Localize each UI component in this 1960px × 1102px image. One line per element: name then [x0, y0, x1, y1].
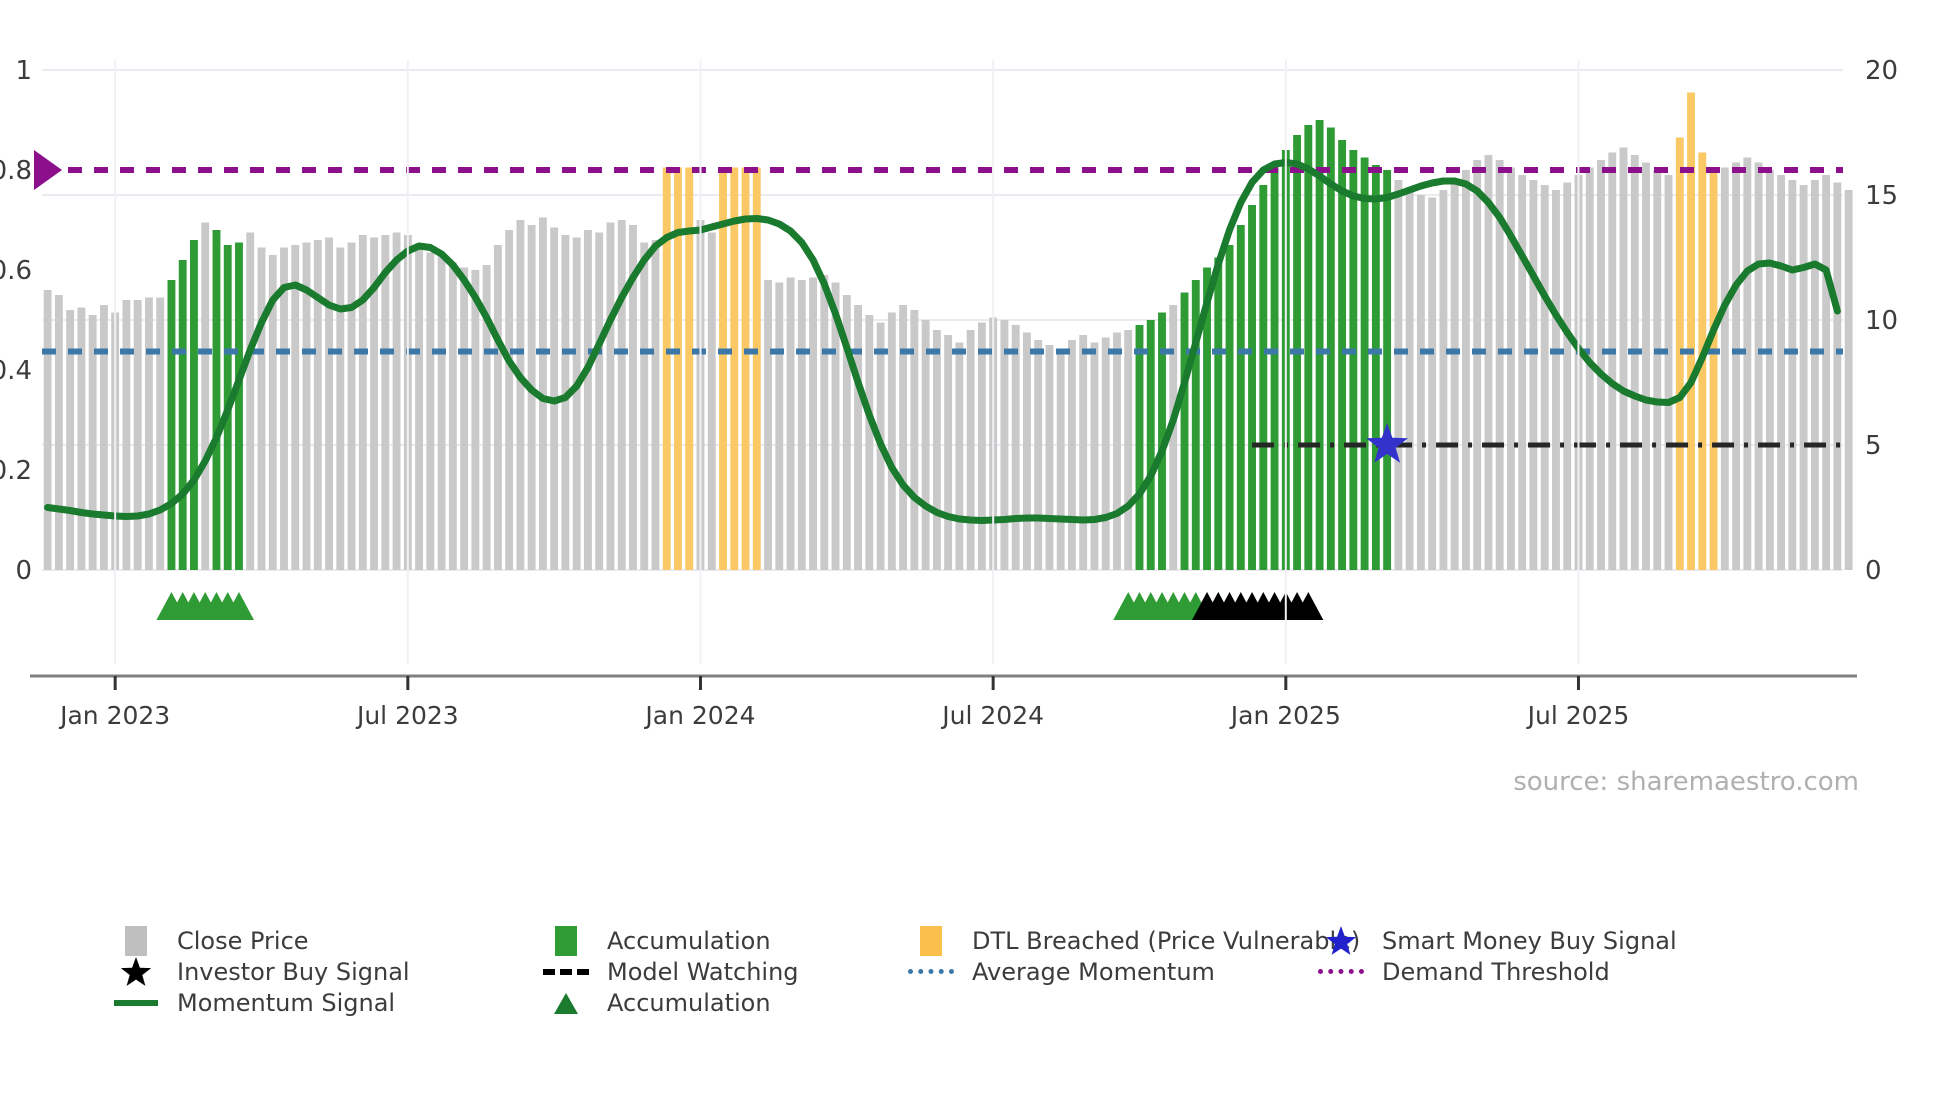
legend-item-demand-threshold[interactable]: Demand Threshold — [1310, 956, 1710, 987]
legend-item-accumulation[interactable]: Accumulation — [535, 987, 900, 1018]
smart-money-star-swatch — [1324, 924, 1358, 958]
legend-item-investor-buy-signal[interactable]: Investor Buy Signal — [105, 956, 535, 987]
close-price-bar[interactable] — [134, 300, 142, 570]
y-axis-left-label[interactable]: 0.2 — [0, 456, 32, 486]
close-price-bar[interactable] — [1079, 335, 1087, 570]
close-price-bar[interactable] — [1406, 188, 1414, 571]
close-price-bar[interactable] — [381, 235, 389, 570]
close-price-bar[interactable] — [471, 270, 479, 570]
legend-swatch — [535, 987, 597, 1018]
dtl-breached-bar[interactable] — [730, 168, 738, 571]
close-price-bar[interactable] — [820, 275, 828, 570]
accumulation-bar[interactable] — [1304, 125, 1312, 570]
close-price-bar[interactable] — [1620, 148, 1628, 571]
legend-item-accumulation[interactable]: Accumulation — [535, 925, 900, 956]
accumulation-bar[interactable] — [1226, 245, 1234, 570]
close-price-bar[interactable] — [438, 255, 446, 570]
accumulation-bar[interactable] — [1271, 168, 1279, 571]
close-price-bar[interactable] — [1045, 345, 1053, 570]
close-price-bar[interactable] — [640, 243, 648, 571]
close-price-bar[interactable] — [246, 233, 254, 571]
legend-label: Average Momentum — [972, 958, 1215, 986]
close-price-bar[interactable] — [787, 278, 795, 571]
close-price-bar[interactable] — [1057, 350, 1065, 570]
close-price-bar[interactable] — [426, 253, 434, 571]
close-price-bar[interactable] — [764, 280, 772, 570]
accumulation-bar[interactable] — [1259, 185, 1267, 570]
close-price-bar[interactable] — [1721, 168, 1729, 571]
legend-label: DTL Breached (Price Vulnerable) — [972, 927, 1360, 955]
legend-label: Momentum Signal — [177, 989, 395, 1017]
close-price-bar[interactable] — [809, 278, 817, 571]
close-price-bar[interactable] — [955, 343, 963, 571]
x-axis-tick-label[interactable]: Jul 2024 — [940, 701, 1044, 730]
accumulation-bar[interactable] — [1136, 325, 1144, 570]
y-axis-left-label[interactable]: 1 — [15, 56, 32, 86]
y-axis-left-label[interactable]: 0.6 — [0, 256, 32, 286]
dtl-breached-bar[interactable] — [674, 168, 682, 571]
close-price-bar[interactable] — [314, 240, 322, 570]
close-price-bar[interactable] — [854, 305, 862, 570]
close-price-bar[interactable] — [1766, 170, 1774, 570]
close-price-bar[interactable] — [944, 335, 952, 570]
close-price-bar[interactable] — [1845, 190, 1853, 570]
accumulation-bar[interactable] — [179, 260, 187, 570]
close-price-bar[interactable] — [1518, 175, 1526, 570]
close-price-bar[interactable] — [1417, 195, 1425, 570]
close-price-bar[interactable] — [258, 248, 266, 571]
close-price-bar[interactable] — [348, 243, 356, 571]
close-price-bar[interactable] — [1541, 185, 1549, 570]
y-axis-left-label[interactable]: 0.4 — [0, 356, 32, 386]
close-price-bar[interactable] — [967, 330, 975, 570]
close-price-bar[interactable] — [1023, 333, 1031, 571]
chart-legend: Close PriceAccumulationDTL Breached (Pri… — [105, 925, 1905, 1018]
close-price-bar[interactable] — [44, 290, 52, 570]
close-price-bar[interactable] — [1833, 183, 1841, 571]
close-price-bar[interactable] — [291, 245, 299, 570]
y-axis-left-label[interactable]: 0 — [15, 556, 32, 586]
close-price-bar[interactable] — [359, 235, 367, 570]
close-price-bar[interactable] — [494, 245, 502, 570]
close-price-bar[interactable] — [607, 223, 615, 571]
x-axis-tick-label[interactable]: Jul 2023 — [355, 701, 459, 730]
close-price-bar[interactable] — [1552, 190, 1560, 570]
dtl-breached-swatch — [920, 926, 942, 956]
close-price-bar[interactable] — [1394, 180, 1402, 570]
close-price-bar[interactable] — [922, 320, 930, 570]
close-price-bar[interactable] — [1597, 160, 1605, 570]
dtl-breached-bar[interactable] — [1687, 93, 1695, 571]
close-price-bar[interactable] — [1451, 180, 1459, 570]
close-price-bar[interactable] — [280, 248, 288, 571]
source-attribution[interactable]: source: sharemaestro.com — [1513, 767, 1859, 797]
accumulation-bar[interactable] — [1383, 170, 1391, 570]
close-price-bar[interactable] — [561, 235, 569, 570]
dtl-breached-bar[interactable] — [753, 168, 761, 571]
accumulation-bar[interactable] — [190, 240, 198, 570]
accumulation-triangle-markers — [156, 592, 1323, 620]
close-price-bar[interactable] — [516, 220, 524, 570]
close-price-bar[interactable] — [77, 308, 85, 571]
accumulation-bar[interactable] — [1361, 158, 1369, 571]
close-price-bar[interactable] — [1800, 185, 1808, 570]
y-axis-right-label[interactable]: 15 — [1865, 181, 1898, 211]
legend-swatch — [1310, 925, 1372, 956]
legend-swatch — [105, 987, 167, 1018]
close-price-bar[interactable] — [1777, 175, 1785, 570]
close-price-bar[interactable] — [1642, 163, 1650, 571]
close-price-swatch — [125, 926, 147, 956]
accumulation-bar[interactable] — [1372, 165, 1380, 570]
accumulation-bar[interactable] — [1181, 293, 1189, 571]
close-price-bar[interactable] — [528, 225, 536, 570]
model-watching-swatch — [543, 969, 589, 975]
close-price-bar[interactable] — [1665, 175, 1673, 570]
y-axis-right-label[interactable]: 0 — [1865, 556, 1882, 586]
close-price-bar[interactable] — [1755, 163, 1763, 571]
legend-swatch — [1310, 956, 1372, 987]
legend-label: Investor Buy Signal — [177, 958, 410, 986]
accumulation-bar[interactable] — [1349, 150, 1357, 570]
close-price-bar[interactable] — [145, 298, 153, 571]
accumulation-bar[interactable] — [213, 230, 221, 570]
demand-threshold-arrow-marker[interactable] — [34, 150, 62, 190]
close-price-bar[interactable] — [393, 233, 401, 571]
close-price-bar[interactable] — [1113, 333, 1121, 571]
close-price-bar[interactable] — [708, 233, 716, 571]
close-price-bar[interactable] — [1091, 343, 1099, 571]
close-price-bar[interactable] — [325, 238, 333, 571]
investor-buy-star-swatch — [119, 955, 153, 989]
close-price-bar[interactable] — [933, 330, 941, 570]
legend-swatch — [105, 956, 167, 987]
accumulation-bar[interactable] — [1214, 258, 1222, 571]
accumulation-bar-swatch — [555, 926, 577, 956]
x-axis-tick-label[interactable]: Jan 2023 — [58, 701, 170, 730]
y-axis-right-label[interactable]: 20 — [1865, 56, 1898, 86]
accumulation-bar[interactable] — [1338, 140, 1346, 570]
legend-label: Accumulation — [607, 927, 771, 955]
close-price-bar[interactable] — [595, 233, 603, 571]
chart-container: Jan 2023Jul 2023Jan 2024Jul 2024Jan 2025… — [0, 0, 1960, 1102]
close-price-bar[interactable] — [1012, 325, 1020, 570]
accumulation-triangle-swatch — [550, 988, 582, 1018]
close-price-bar[interactable] — [336, 248, 344, 571]
legend-swatch — [900, 925, 962, 956]
close-price-bar[interactable] — [156, 298, 164, 571]
average-momentum-swatch — [908, 969, 954, 974]
close-price-bar[interactable] — [978, 323, 986, 571]
close-price-bar[interactable] — [775, 283, 783, 571]
close-price-bar[interactable] — [55, 295, 63, 570]
legend-item-average-momentum[interactable]: Average Momentum — [900, 956, 1310, 987]
dtl-breached-bar[interactable] — [663, 168, 671, 571]
close-price-bar[interactable] — [460, 268, 468, 571]
close-price-bar[interactable] — [1732, 163, 1740, 571]
close-price-bar[interactable] — [584, 230, 592, 570]
accumulation-bar[interactable] — [1237, 225, 1245, 570]
close-price-bar[interactable] — [865, 315, 873, 570]
close-price-bars — [44, 93, 1853, 571]
close-price-bar[interactable] — [1811, 180, 1819, 570]
close-price-bar[interactable] — [1631, 155, 1639, 570]
close-price-bar[interactable] — [122, 300, 130, 570]
close-price-bar[interactable] — [1428, 198, 1436, 571]
legend-swatch — [105, 925, 167, 956]
close-price-bar[interactable] — [1743, 158, 1751, 571]
accumulation-bar[interactable] — [168, 280, 176, 570]
close-price-bar[interactable] — [1034, 340, 1042, 570]
legend-label: Demand Threshold — [1382, 958, 1610, 986]
accumulation-bar[interactable] — [1316, 120, 1324, 570]
accumulation-bar[interactable] — [235, 243, 243, 571]
close-price-bar[interactable] — [1608, 153, 1616, 571]
close-price-bar[interactable] — [505, 230, 513, 570]
y-axis-left-label[interactable]: 0.8 — [0, 156, 32, 186]
x-axis-tick-label[interactable]: Jan 2025 — [1229, 701, 1341, 730]
legend-swatch — [535, 925, 597, 956]
close-price-bar[interactable] — [1462, 170, 1470, 570]
x-axis-tick-label[interactable]: Jul 2025 — [1526, 701, 1630, 730]
close-price-bar[interactable] — [798, 280, 806, 570]
close-price-bar[interactable] — [1102, 338, 1110, 571]
accumulation-bar[interactable] — [1147, 320, 1155, 570]
close-price-bar[interactable] — [1473, 160, 1481, 570]
legend-label: Accumulation — [607, 989, 771, 1017]
close-price-bar[interactable] — [1000, 320, 1008, 570]
y-axis-right-label[interactable]: 10 — [1865, 306, 1898, 336]
dtl-breached-bar[interactable] — [1710, 168, 1718, 571]
legend-label: Smart Money Buy Signal — [1382, 927, 1677, 955]
gridlines — [42, 70, 1843, 570]
close-price-bar[interactable] — [652, 240, 660, 570]
legend-item-momentum-signal[interactable]: Momentum Signal — [105, 987, 535, 1018]
legend-swatch — [535, 956, 597, 987]
close-price-bar[interactable] — [1484, 155, 1492, 570]
x-axis-tick-label[interactable]: Jan 2024 — [643, 701, 755, 730]
close-price-bar[interactable] — [888, 313, 896, 571]
close-price-bar[interactable] — [1822, 175, 1830, 570]
legend-item-close-price[interactable]: Close Price — [105, 925, 535, 956]
legend-label: Model Watching — [607, 958, 799, 986]
demand-threshold-swatch — [1318, 969, 1364, 974]
legend-item-smart-money-buy-signal[interactable]: Smart Money Buy Signal — [1310, 925, 1710, 956]
dtl-breached-bar[interactable] — [742, 168, 750, 571]
close-price-bar[interactable] — [1439, 190, 1447, 570]
close-price-bar[interactable] — [573, 238, 581, 571]
close-price-bar[interactable] — [449, 263, 457, 571]
close-price-bar[interactable] — [1530, 180, 1538, 570]
legend-item-model-watching[interactable]: Model Watching — [535, 956, 900, 987]
legend-item-dtl-breached-price-vulnerable[interactable]: DTL Breached (Price Vulnerable) — [900, 925, 1310, 956]
close-price-bar[interactable] — [100, 305, 108, 570]
close-price-bar[interactable] — [1788, 180, 1796, 570]
momentum-signal-swatch — [114, 1000, 158, 1006]
close-price-bar[interactable] — [618, 220, 626, 570]
close-price-bar[interactable] — [1068, 340, 1076, 570]
close-price-bar[interactable] — [201, 223, 209, 571]
legend-label: Close Price — [177, 927, 309, 955]
legend-swatch — [900, 956, 962, 987]
close-price-bar[interactable] — [899, 305, 907, 570]
accumulation-bar[interactable] — [1248, 205, 1256, 570]
close-price-bar[interactable] — [1563, 183, 1571, 571]
close-price-bar[interactable] — [1653, 170, 1661, 570]
close-price-bar[interactable] — [415, 245, 423, 570]
y-axis-right-label[interactable]: 5 — [1865, 431, 1882, 461]
close-price-bar[interactable] — [1124, 330, 1132, 570]
